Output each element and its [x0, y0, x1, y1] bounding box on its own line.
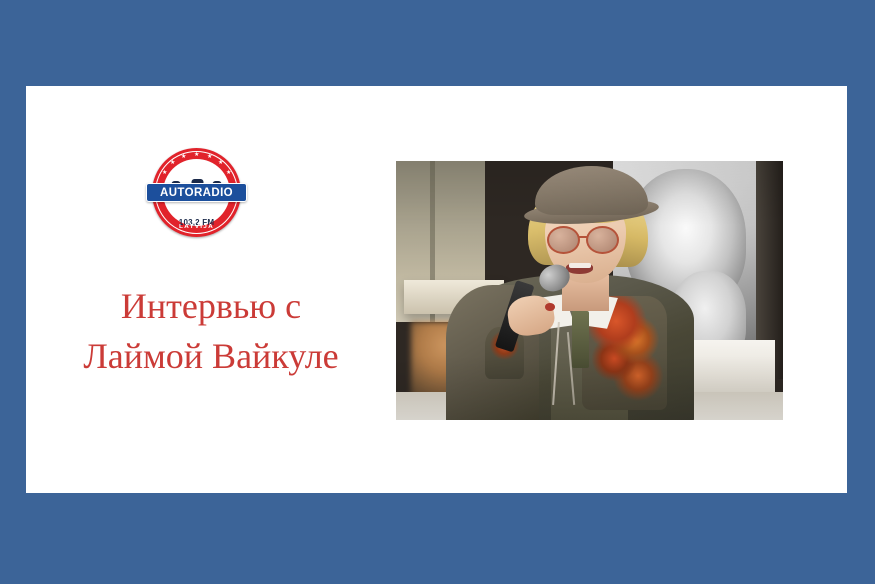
- hat-icon: [535, 166, 647, 215]
- logo-country-text: LATVIJA: [152, 223, 241, 229]
- sunglasses-icon: [547, 226, 580, 254]
- sunglasses-icon: [586, 226, 619, 254]
- content-card: 103,2 FM AUTORADIO LATVIJA Интервью с Ла…: [26, 86, 847, 493]
- photo-subject: [396, 161, 783, 420]
- star-icon: [218, 161, 223, 166]
- mouth: [566, 263, 593, 273]
- star-icon: [226, 171, 231, 176]
- tie: [572, 311, 589, 368]
- fingernail: [545, 303, 555, 311]
- logo-brand-text: AUTORADIO: [160, 187, 233, 199]
- star-icon: [194, 153, 199, 158]
- autoradio-logo[interactable]: 103,2 FM AUTORADIO LATVIJA: [152, 148, 241, 237]
- slide-background: 103,2 FM AUTORADIO LATVIJA Интервью с Ла…: [0, 0, 875, 584]
- sunglasses-bridge: [579, 236, 588, 238]
- star-icon: [181, 155, 186, 160]
- star-icon: [170, 161, 175, 166]
- page-title: Интервью с Лаймой Вайкуле: [26, 282, 396, 381]
- star-icon: [207, 155, 212, 160]
- logo-brand-banner: AUTORADIO: [146, 183, 247, 202]
- left-column: 103,2 FM AUTORADIO LATVIJA Интервью с Ла…: [26, 86, 396, 493]
- interview-photo[interactable]: [396, 161, 783, 420]
